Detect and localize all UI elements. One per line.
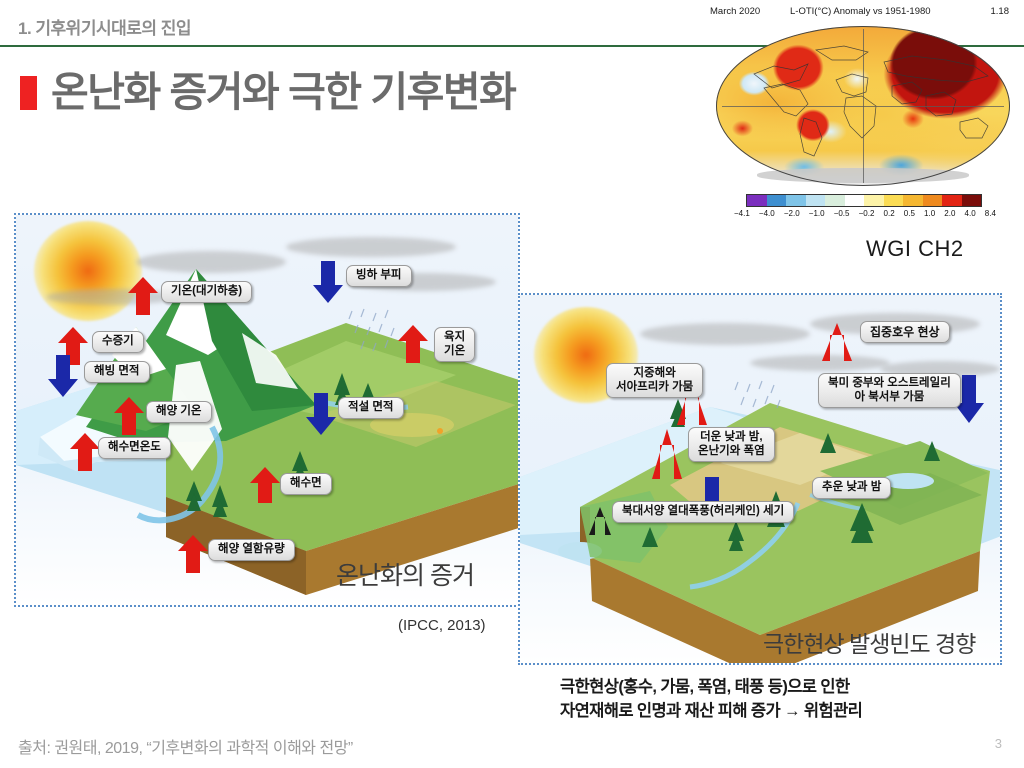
colorbar-tick-label: 4.0 bbox=[965, 209, 976, 218]
arrow-up-icon bbox=[114, 397, 144, 435]
arrow-down-icon bbox=[313, 261, 343, 303]
page-title: 온난화 증거와 극한 기후변화 bbox=[51, 72, 515, 113]
colorbar-swatch bbox=[884, 195, 904, 206]
callout-snow-cover-area: 적설 면적 bbox=[338, 397, 404, 419]
callout-water-vapor: 수증기 bbox=[92, 331, 144, 353]
left-panel-source: (IPCC, 2013) bbox=[398, 617, 486, 634]
callout-heavy-rainfall: 집중호우 현상 bbox=[860, 321, 950, 343]
callout-air-temperature: 기온(대기하층) bbox=[161, 281, 252, 303]
colorbar-swatch bbox=[864, 195, 884, 206]
section-kicker: 1. 기후위기시대로의 진입 bbox=[18, 14, 191, 39]
arrow-up-icon bbox=[398, 325, 428, 363]
colorbar-tick-label: −0.2 bbox=[859, 209, 875, 218]
callout-mediterranean-west-africa-drought: 지중해와 서아프리카 가뭄 bbox=[606, 363, 703, 398]
colorbar bbox=[746, 194, 982, 207]
arrow-up-icon bbox=[178, 535, 208, 573]
callout-cold-days-nights: 추운 낮과 밤 bbox=[812, 477, 891, 499]
colorbar-swatch bbox=[942, 195, 962, 206]
colorbar-swatch bbox=[806, 195, 826, 206]
colorbar-tick-label: 0.5 bbox=[904, 209, 915, 218]
panel-extreme-events: 집중호우 현상 지중해와 서아프리카 가뭄 북미 중부와 오스트레일리 아 북서… bbox=[518, 293, 1002, 665]
arrow-up-black-icon bbox=[589, 507, 611, 535]
colorbar-swatch bbox=[825, 195, 845, 206]
giss-temperature-map: March 2020 L-OTI(°C) Anomaly vs 1951-198… bbox=[710, 6, 1015, 236]
colorbar-tick-label: −1.0 bbox=[809, 209, 825, 218]
colorbar-tick-label: −4.0 bbox=[759, 209, 775, 218]
callout-hot-days-nights-heatwave: 더운 낮과 밤, 온난기와 폭염 bbox=[688, 427, 775, 462]
colorbar-tick-label: −0.5 bbox=[834, 209, 850, 218]
colorbar-ticks: −4.1−4.0−2.0−1.0−0.5−0.20.20.51.02.04.08… bbox=[734, 209, 996, 218]
arrow-up-icon bbox=[822, 323, 852, 361]
red-square-bullet-icon bbox=[20, 76, 37, 110]
colorbar-tick-label: 8.4 bbox=[985, 209, 996, 218]
wgi-caption: WGI CH2 bbox=[866, 236, 964, 262]
callout-ocean-temperature: 해양 기온 bbox=[146, 401, 212, 423]
callout-sea-level: 해수면 bbox=[280, 473, 332, 495]
callout-glacier-volume: 빙하 부피 bbox=[346, 265, 412, 287]
left-panel-title: 온난화의 증거 bbox=[336, 556, 474, 592]
colorbar-tick-label: 0.2 bbox=[884, 209, 895, 218]
equator-gridline bbox=[722, 106, 1004, 107]
callout-ocean-heat-content: 해양 열함유량 bbox=[208, 539, 295, 561]
giss-map-header: March 2020 L-OTI(°C) Anomaly vs 1951-198… bbox=[710, 6, 1015, 22]
callout-north-america-australia-drought: 북미 중부와 오스트레일리 아 북서부 가뭄 bbox=[818, 373, 961, 408]
colorbar-tick-label: 2.0 bbox=[944, 209, 955, 218]
colorbar-swatch bbox=[845, 195, 865, 206]
page-title-row: 온난화 증거와 극한 기후변화 bbox=[20, 72, 515, 113]
callout-land-temperature: 육지 기온 bbox=[434, 327, 475, 362]
colorbar-tick-label: −2.0 bbox=[784, 209, 800, 218]
arrow-down-icon bbox=[306, 393, 336, 435]
giss-date-label: March 2020 bbox=[710, 6, 760, 17]
colorbar-tick-label: 1.0 bbox=[924, 209, 935, 218]
slide-root: 1. 기후위기시대로의 진입 온난화 증거와 극한 기후변화 March 202… bbox=[0, 0, 1024, 768]
callout-north-atlantic-hurricane-intensity: 북대서양 열대폭풍(허리케인) 세기 bbox=[612, 501, 794, 523]
slide-source-footer: 출처: 권원태, 2019, “기후변화의 과학적 이해와 전망” bbox=[18, 734, 353, 758]
page-number: 3 bbox=[995, 736, 1002, 751]
right-arrow-layer bbox=[520, 295, 1002, 665]
colorbar-swatch bbox=[962, 195, 982, 206]
giss-metric-label: L-OTI(°C) Anomaly vs 1951-1980 bbox=[790, 6, 931, 17]
arrow-up-icon bbox=[128, 277, 158, 315]
colorbar-tick-label: −4.1 bbox=[734, 209, 750, 218]
bottom-summary-note: 극한현상(홍수, 가뭄, 폭염, 태풍 등)으로 인한 자연재해로 인명과 재산… bbox=[560, 676, 862, 724]
right-panel-title: 극한현상 발생빈도 경향 bbox=[763, 625, 975, 659]
colorbar-swatch bbox=[767, 195, 787, 206]
colorbar-swatch bbox=[786, 195, 806, 206]
callout-sea-surface-temperature: 해수면온도 bbox=[98, 437, 171, 459]
arrow-up-icon bbox=[250, 467, 280, 503]
callout-sea-ice-area: 해빙 면적 bbox=[84, 361, 150, 383]
colorbar-swatch bbox=[923, 195, 943, 206]
panel-warming-evidence: 기온(대기하층) 수증기 해빙 면적 해양 기온 해수면온도 해양 열함유량 빙… bbox=[14, 213, 520, 607]
globe-projection bbox=[716, 26, 1010, 186]
arrow-up-icon bbox=[652, 429, 682, 479]
giss-value-label: 1.18 bbox=[991, 6, 1010, 17]
colorbar-swatch bbox=[903, 195, 923, 206]
colorbar-swatch bbox=[747, 195, 767, 206]
arrow-up-icon bbox=[70, 433, 100, 471]
